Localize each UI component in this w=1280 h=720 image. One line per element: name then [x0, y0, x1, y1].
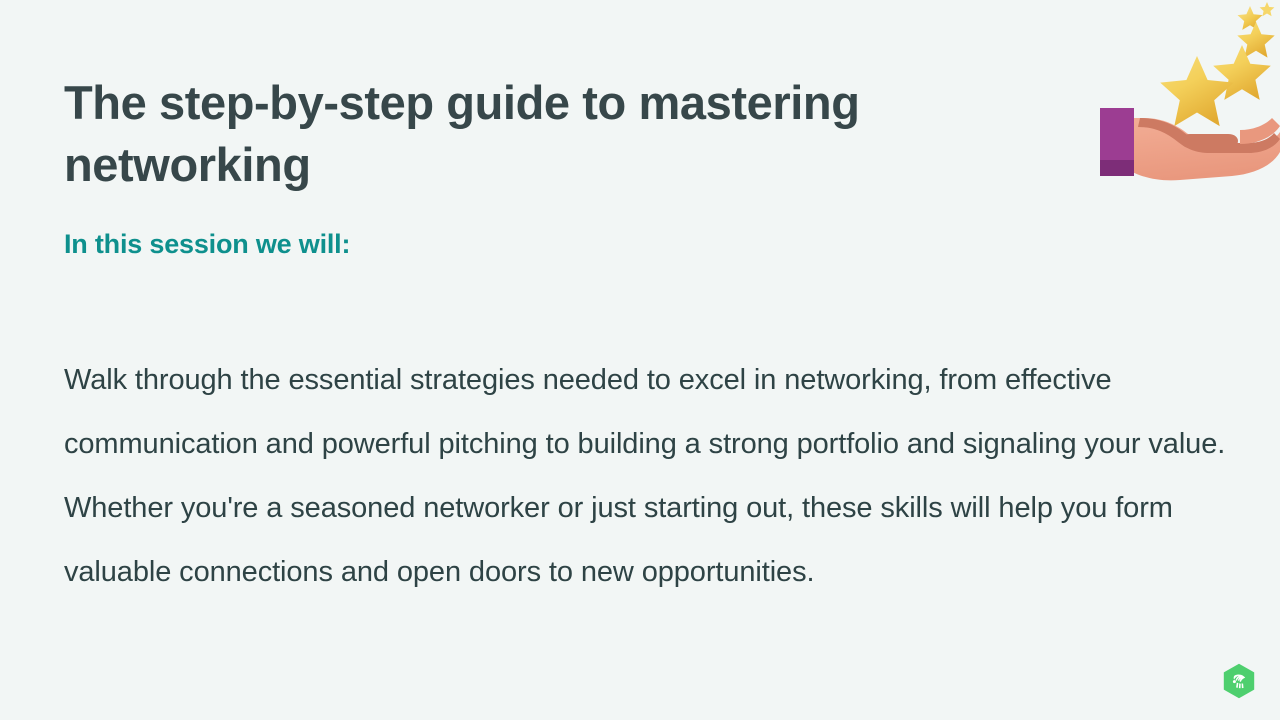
session-subtitle: In this session we will:	[64, 224, 350, 264]
slide-canvas: The step-by-step guide to mastering netw…	[0, 0, 1280, 720]
hand-holding-stars-illustration	[1090, 0, 1280, 190]
star-tiny-icon	[1238, 6, 1263, 30]
sleeve-cuff	[1100, 108, 1134, 176]
session-description: Walk through the essential strategies ne…	[64, 348, 1229, 604]
page-title: The step-by-step guide to mastering netw…	[64, 72, 964, 196]
star-sparkle-icon	[1260, 2, 1275, 16]
brand-hexagon-logo[interactable]	[1222, 663, 1256, 699]
